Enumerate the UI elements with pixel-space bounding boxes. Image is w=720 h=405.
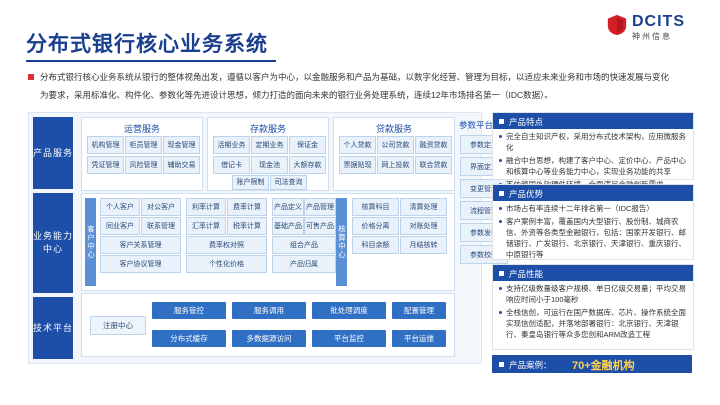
cap-tile-contact-mgmt[interactable]: 联系管理 xyxy=(141,217,181,235)
tile-financing-loan[interactable]: 融资贷款 xyxy=(415,136,452,154)
advantage-item-2: 客户案例丰富，覆盖国内大型银行、股份制、城商农信、外资等各类型金融银行，包括：国… xyxy=(499,216,687,260)
advantage-item-1: 市场占有率连续十二年排名第一（IDC报告） xyxy=(499,203,687,214)
cap-tile-tax-calc[interactable]: 税率计算 xyxy=(227,217,267,235)
tile-corporate-loan[interactable]: 公司贷款 xyxy=(377,136,414,154)
group-deposit-service: 存款服务 活期业务 定期业务 保证金 借记卡 现金池 大额存款 账户限制 司法查… xyxy=(207,117,329,191)
cap-tile-fee-calc[interactable]: 费率计算 xyxy=(227,198,267,216)
performance-item-1: 支持亿级数量级客户规模、单日亿级交易量；平均交易响应时间小于100毫秒 xyxy=(499,283,687,305)
cap-tile-rate-calc[interactable]: 利率计算 xyxy=(186,198,226,216)
page-title: 分布式银行核心业务系统 xyxy=(26,28,268,58)
panel-header-performance: 产品性能 xyxy=(493,265,693,281)
cap-tile-account-subject[interactable]: 核算科目 xyxy=(352,198,399,216)
panel-bullet-icon xyxy=(499,271,504,276)
panel-product-advantages: 产品优势 市场占有率连续十二年排名第一（IDC报告） 客户案例丰富，覆盖国内大型… xyxy=(492,184,694,260)
slide-canvas: 分布式银行核心业务系统 DCITS 神州信息 分布式银行核心业务系统从银行的整体… xyxy=(0,0,720,405)
intro-line-2: 为要求，采用标准化、构件化、参数化等先进设计思想，倾力打造的面向未来的银行业务处… xyxy=(40,88,688,102)
tile-aux-trade[interactable]: 辅助交易 xyxy=(163,156,200,174)
panel-header-advantages: 产品优势 xyxy=(493,185,693,201)
tech-tile-platform-monitor[interactable]: 平台监控 xyxy=(312,330,386,347)
tile-online-loan[interactable]: 网上投款 xyxy=(377,156,414,174)
cap-tile-product-mgmt[interactable]: 产品管理 xyxy=(304,198,336,216)
tech-tile-config-mgmt[interactable]: 配置管理 xyxy=(392,302,446,319)
tech-tile-platform-ops[interactable]: 平台运维 xyxy=(392,330,446,347)
tile-cash-pool[interactable]: 现金池 xyxy=(251,156,288,174)
layer-labels: 产品服务 业务能力中心 技术平台 xyxy=(33,117,73,359)
tile-current-business[interactable]: 活期业务 xyxy=(213,136,250,154)
cap-tile-personal-price[interactable]: 个性化价格 xyxy=(186,255,267,273)
panel-title-performance: 产品性能 xyxy=(509,268,543,280)
cap-tile-base-product[interactable]: 基础产品 xyxy=(272,217,304,235)
title-underline xyxy=(26,60,276,62)
tech-tile-distributed-cache[interactable]: 分布式缓存 xyxy=(152,330,226,347)
tile-org-mgmt[interactable]: 机构管理 xyxy=(87,136,124,154)
tile-risk-mgmt[interactable]: 风险管理 xyxy=(125,156,162,174)
group-operation-service: 运营服务 机构管理 柜员管理 现金管理 凭证管理 风险管理 辅助交易 xyxy=(81,117,203,191)
cap-tile-customer-relation[interactable]: 客户关系管理 xyxy=(100,236,181,254)
group-title-deposit: 存款服务 xyxy=(208,122,328,135)
logo-text-cn: 神州信息 xyxy=(632,31,672,42)
tile-margin[interactable]: 保证金 xyxy=(289,136,326,154)
feature-item-2: 融合中台思想，构建了客户中心、定价中心、产品中心和核算中心等业务能力中心，实现业… xyxy=(499,155,687,177)
panel-title-advantages: 产品优势 xyxy=(509,188,543,200)
layer-label-tech-platform: 技术平台 xyxy=(33,297,73,359)
group-loan-service: 贷款服务 个人贷款 公司贷款 融资贷款 票据贴现 网上投款 联合贷款 xyxy=(333,117,455,191)
intro-line-1: 分布式银行核心业务系统从银行的整体视角出发，遵循以客户为中心，以金融服务和产品为… xyxy=(40,70,688,84)
feature-item-1: 完全自主知识产权，采用分布式技术架构，应用微服务化 xyxy=(499,131,687,153)
layer-label-capability-center: 业务能力中心 xyxy=(33,193,73,293)
cap-tile-customer-agreement[interactable]: 客户协议管理 xyxy=(100,255,181,273)
tile-voucher-mgmt[interactable]: 凭证管理 xyxy=(87,156,124,174)
cap-tile-product-owner[interactable]: 产品归属 xyxy=(272,255,336,273)
panel-bullet-icon xyxy=(499,191,504,196)
panel-product-features: 产品特点 完全自主知识产权，采用分布式技术架构，应用微服务化 融合中台思想，构建… xyxy=(492,112,694,180)
group-title-loan: 贷款服务 xyxy=(334,122,454,135)
bullet-square-icon xyxy=(28,74,34,80)
cap-tile-subject-balance[interactable]: 科目余额 xyxy=(352,236,399,254)
tile-fixed-business[interactable]: 定期业务 xyxy=(251,136,288,154)
tile-judicial-query[interactable]: 司法查询 xyxy=(270,175,307,190)
panel-bullet-icon xyxy=(499,119,504,124)
cap-tile-fee-compare[interactable]: 费率权对照 xyxy=(186,236,267,254)
tech-tile-registry[interactable]: 注册中心 xyxy=(90,316,146,335)
cap-tile-personal-customer[interactable]: 个人客户 xyxy=(100,198,140,216)
logo-mark-icon xyxy=(606,14,628,36)
case-label: 产品案例： xyxy=(509,359,552,371)
case-bullet-icon xyxy=(499,362,504,367)
tile-teller-mgmt[interactable]: 柜员管理 xyxy=(125,136,162,154)
group-title-operation: 运营服务 xyxy=(82,122,202,135)
logo-text-en: DCITS xyxy=(632,13,685,31)
tech-tile-batch-schedule[interactable]: 批处理调度 xyxy=(312,302,386,319)
tile-bill-discount[interactable]: 票据贴现 xyxy=(339,156,376,174)
intro-paragraph: 分布式银行核心业务系统从银行的整体视角出发，遵循以客户为中心，以金融服务和产品为… xyxy=(28,70,688,106)
tile-account-limit[interactable]: 账户限制 xyxy=(232,175,269,190)
cap-tile-fx-calc[interactable]: 汇率计算 xyxy=(186,217,226,235)
tile-debit-card[interactable]: 借记卡 xyxy=(213,156,250,174)
tech-tile-service-control[interactable]: 服务管控 xyxy=(152,302,226,319)
performance-item-2: 全栈信创，可运行在国产数据库、芯片、操作系统全面实现信创适配，并落地部署银行：北… xyxy=(499,307,687,340)
param-platform-title: 参数平台 xyxy=(459,119,493,131)
tech-platform-box: 注册中心 服务管控 服务调用 批处理调度 配置管理 分布式缓存 多数据源访问 平… xyxy=(81,293,455,357)
cap-tile-combo-product[interactable]: 组合产品 xyxy=(272,236,336,254)
tech-tile-service-invoke[interactable]: 服务调用 xyxy=(232,302,306,319)
cap-tile-price-split[interactable]: 价格分离 xyxy=(352,217,399,235)
brand-logo: DCITS 神州信息 xyxy=(606,12,702,46)
tile-joint-loan[interactable]: 联合贷款 xyxy=(415,156,452,174)
cap-tile-sellable-product[interactable]: 可售产品 xyxy=(304,217,336,235)
cap-tile-month-end[interactable]: 月结核转 xyxy=(400,236,447,254)
cap-tile-corporate-customer[interactable]: 对公客户 xyxy=(141,198,181,216)
panel-header-features: 产品特点 xyxy=(493,113,693,129)
cap-tile-product-define[interactable]: 产品定义 xyxy=(272,198,304,216)
cap-tile-settlement[interactable]: 清算处理 xyxy=(400,198,447,216)
tile-cash-mgmt[interactable]: 现金管理 xyxy=(163,136,200,154)
architecture-diagram: 产品服务 业务能力中心 技术平台 运营服务 机构管理 柜员管理 现金管理 凭证管… xyxy=(28,112,482,364)
panel-product-performance: 产品性能 支持亿级数量级客户规模、单日亿级交易量；平均交易响应时间小于100毫秒… xyxy=(492,264,694,350)
tech-tile-multi-datasource[interactable]: 多数据源访问 xyxy=(232,330,306,347)
layer-label-product-service: 产品服务 xyxy=(33,117,73,189)
case-summary-bar: 产品案例： 70+金融机构 xyxy=(492,355,692,373)
cap-tile-reconcile[interactable]: 对账处理 xyxy=(400,217,447,235)
capability-label-accounting-center: 核算中心 xyxy=(336,198,347,286)
capability-center: 客户中心 核算中心 个人客户 对公客户 同业客户 联系管理 客户关系管理 客户协… xyxy=(81,193,455,291)
case-value: 70+金融机构 xyxy=(572,357,635,373)
cap-tile-peer-customer[interactable]: 同业客户 xyxy=(100,217,140,235)
capability-label-customer-center: 客户中心 xyxy=(85,198,96,286)
panel-title-features: 产品特点 xyxy=(509,116,543,128)
tile-personal-loan[interactable]: 个人贷款 xyxy=(339,136,376,154)
tile-large-deposit[interactable]: 大额存款 xyxy=(289,156,326,174)
